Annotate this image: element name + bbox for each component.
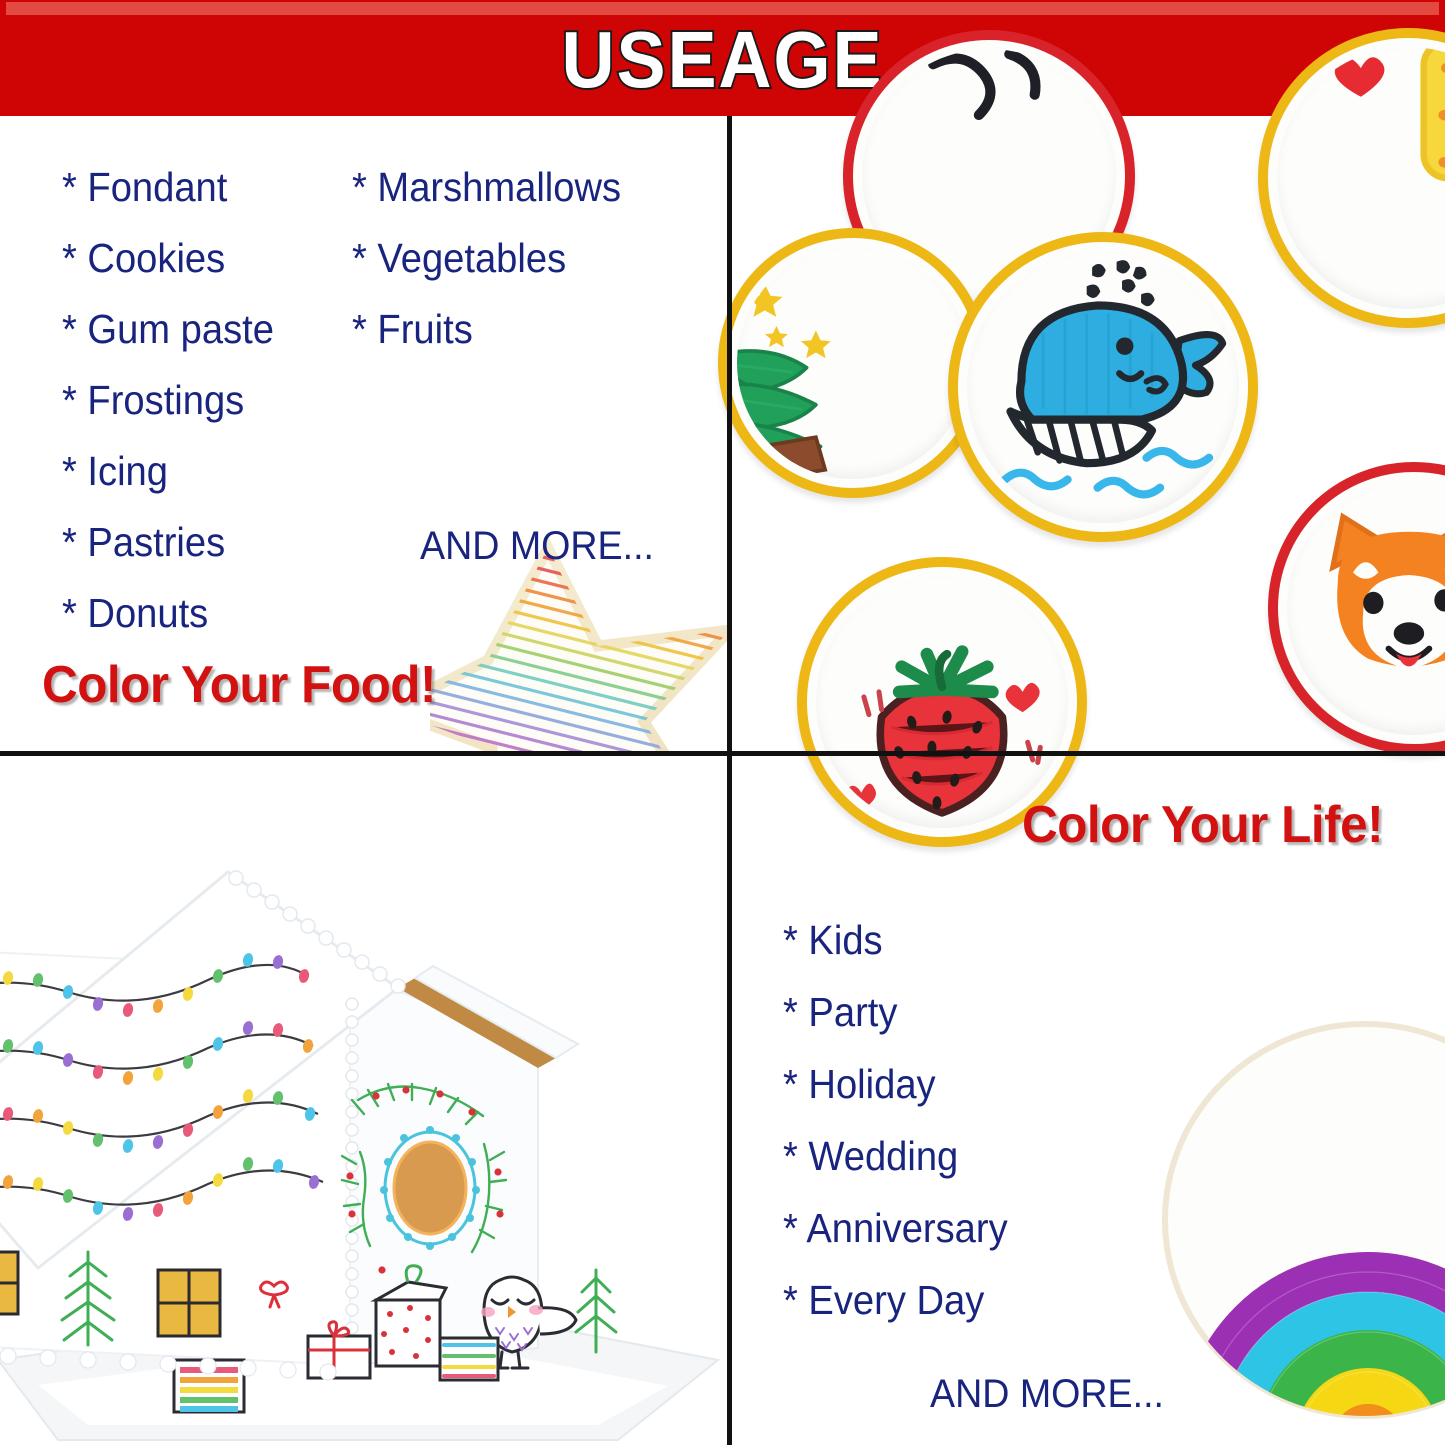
page-title: USEAGE bbox=[58, 14, 1387, 106]
list-item: * Party bbox=[783, 976, 1008, 1048]
cookie-face bbox=[967, 251, 1239, 523]
list-item: * Pastries bbox=[62, 507, 274, 578]
list-item: * Vegetables bbox=[352, 223, 621, 294]
occasion-usage-list: * Kids * Party * Holiday * Wedding * Ann… bbox=[783, 904, 1025, 1336]
food-usage-list-column-2: * Marshmallows * Vegetables * Fruits bbox=[352, 152, 641, 365]
usage-infographic: USEAGE bbox=[0, 0, 1445, 1445]
list-item: * Every Day bbox=[783, 1264, 1008, 1336]
list-item: * Frostings bbox=[62, 365, 274, 436]
horizontal-divider bbox=[0, 751, 1445, 756]
list-item: * Holiday bbox=[783, 1048, 1008, 1120]
rainbow-cookie bbox=[1160, 1020, 1445, 1420]
food-usage-list-column-1: * Fondant * Cookies * Gum paste * Frosti… bbox=[62, 152, 290, 649]
cookie-face: H bbox=[1287, 481, 1445, 735]
and-more-life-label: AND MORE... bbox=[930, 1372, 1164, 1417]
color-your-food-headline: Color Your Food! bbox=[42, 655, 436, 715]
list-item: * Kids bbox=[783, 904, 1008, 976]
list-item: * Donuts bbox=[62, 578, 274, 649]
list-item: * Anniversary bbox=[783, 1192, 1008, 1264]
whale-cookie bbox=[948, 232, 1258, 542]
gingerbread-house bbox=[0, 800, 727, 1445]
cookie-face bbox=[737, 247, 969, 479]
and-more-food-label: AND MORE... bbox=[420, 524, 654, 569]
list-item: * Wedding bbox=[783, 1120, 1008, 1192]
christmas-tree-cookie bbox=[718, 228, 988, 498]
cookie-face bbox=[816, 576, 1068, 828]
list-item: * Fruits bbox=[352, 294, 621, 365]
vertical-divider bbox=[727, 116, 732, 1445]
gingerbread-house-photo bbox=[0, 756, 727, 1445]
color-your-life-headline: Color Your Life! bbox=[1022, 795, 1383, 855]
cookie-face bbox=[1277, 47, 1445, 309]
list-item: * Marshmallows bbox=[352, 152, 621, 223]
list-item: * Fondant bbox=[62, 152, 274, 223]
list-item: * Cookies bbox=[62, 223, 274, 294]
list-item: * Icing bbox=[62, 436, 274, 507]
header-banner: USEAGE bbox=[0, 0, 1445, 116]
list-item: * Gum paste bbox=[62, 294, 274, 365]
